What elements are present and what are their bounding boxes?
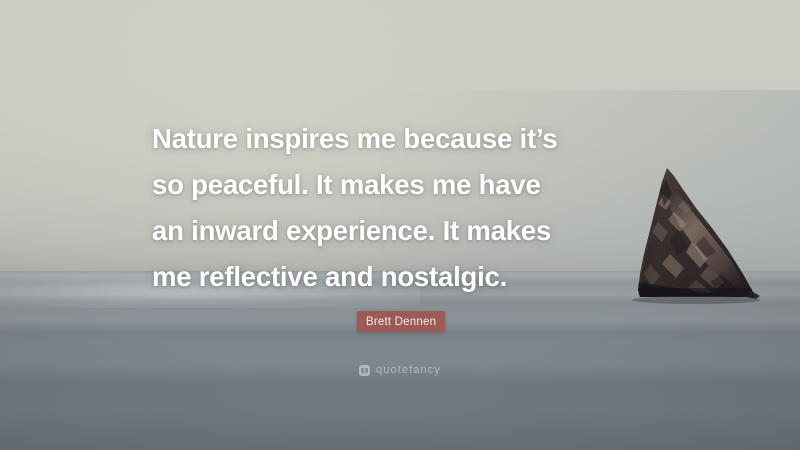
quote-line-4: me reflective and nostalgic. bbox=[152, 254, 672, 300]
quote-text-block: Nature inspires me because it’s so peace… bbox=[152, 116, 672, 300]
quote-image-canvas: Nature inspires me because it’s so peace… bbox=[0, 0, 800, 450]
quotefancy-watermark: quotefancy bbox=[0, 364, 800, 376]
watermark-label: quotefancy bbox=[376, 364, 441, 376]
quote-line-3: an inward experience. It makes bbox=[152, 208, 672, 254]
quote-mark-icon bbox=[359, 365, 370, 376]
quote-line-1: Nature inspires me because it’s bbox=[152, 116, 672, 162]
quote-line-2: so peaceful. It makes me have bbox=[152, 162, 672, 208]
author-name: Brett Dennen bbox=[366, 316, 436, 328]
author-badge[interactable]: Brett Dennen bbox=[357, 311, 445, 332]
